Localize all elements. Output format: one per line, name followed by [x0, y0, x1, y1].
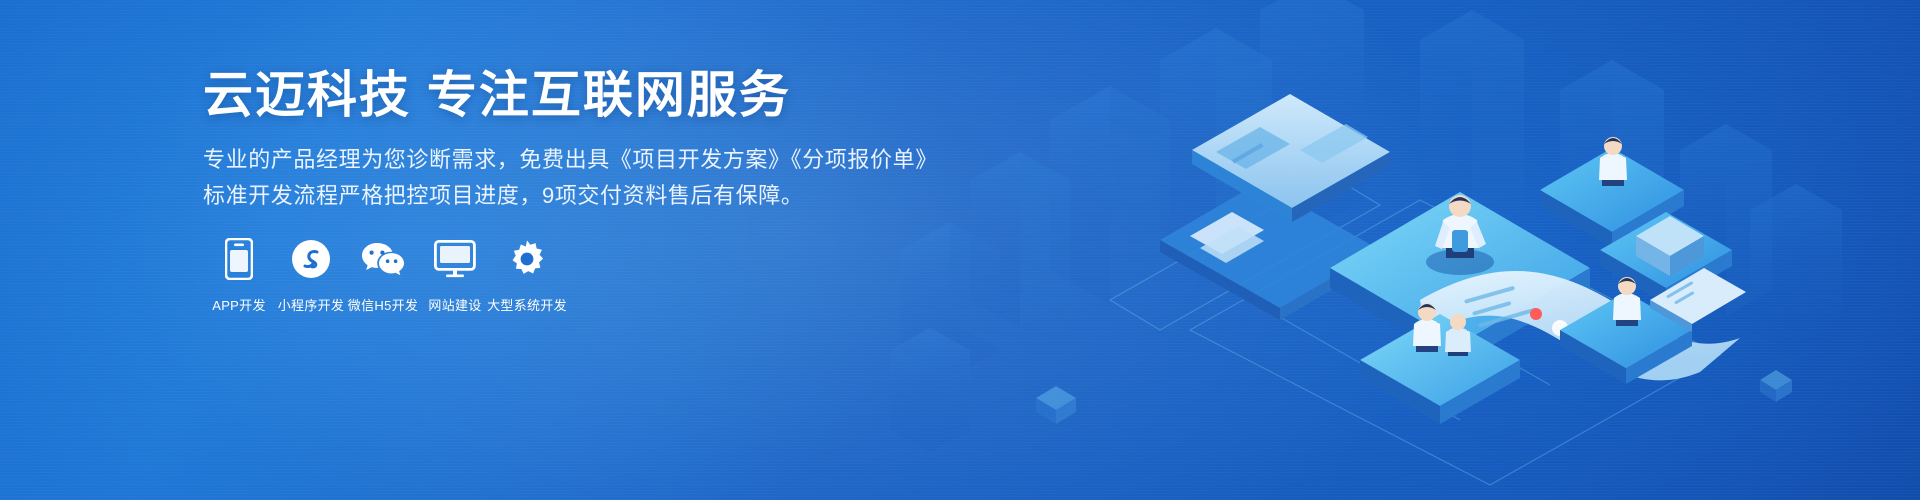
hero-subtitle-line-1: 专业的产品经理为您诊断需求，免费出具《项目开发方案》《分项报价单》	[203, 142, 903, 178]
service-item-wechat-h5[interactable]: 微信H5开发	[347, 236, 419, 314]
hero-copy: 云迈科技 专注互联网服务 专业的产品经理为您诊断需求，免费出具《项目开发方案》《…	[203, 66, 903, 213]
mini-program-icon	[291, 236, 331, 282]
service-label: 大型系统开发	[487, 295, 567, 314]
wechat-icon	[360, 236, 406, 282]
service-item-large-system[interactable]: 大型系统开发	[491, 236, 563, 314]
gear-icon	[507, 236, 547, 282]
service-label: 小程序开发	[278, 295, 345, 314]
service-list: APP开发 小程序开发	[203, 236, 563, 314]
service-label: 网站建设	[428, 295, 481, 314]
hero-subtitle-line-2: 标准开发流程严格把控项目进度，9项交付资料售后有保障。	[203, 178, 903, 214]
hero-banner: 云迈科技 专注互联网服务 专业的产品经理为您诊断需求，免费出具《项目开发方案》《…	[0, 0, 1920, 500]
service-item-website[interactable]: 网站建设	[419, 236, 491, 314]
service-label: APP开发	[212, 295, 266, 314]
isometric-illustration	[860, 0, 1920, 500]
monitor-icon	[434, 236, 476, 282]
service-item-mini-program[interactable]: 小程序开发	[275, 236, 347, 314]
page-title: 云迈科技 专注互联网服务	[203, 66, 903, 124]
mobile-phone-icon	[225, 236, 253, 282]
service-label: 微信H5开发	[348, 295, 418, 314]
hero-subtitle: 专业的产品经理为您诊断需求，免费出具《项目开发方案》《分项报价单》 标准开发流程…	[203, 142, 903, 213]
background-city	[890, 0, 1842, 452]
service-item-app[interactable]: APP开发	[203, 236, 275, 314]
